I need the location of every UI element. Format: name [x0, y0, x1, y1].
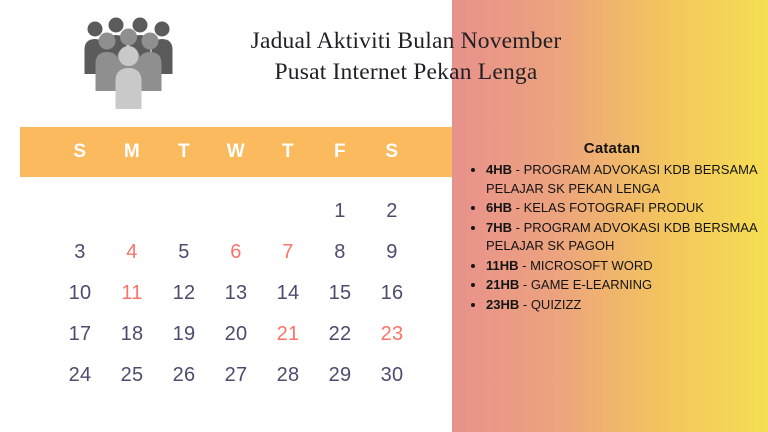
calendar-day-15[interactable]: 15	[314, 282, 366, 305]
note-separator: -	[519, 277, 531, 292]
note-text: KELAS FOTOGRAFI PRODUK	[524, 200, 704, 215]
calendar-day-header-2: T	[158, 141, 210, 163]
poster-canvas: Jadual Aktiviti Bulan November Pusat Int…	[0, 0, 768, 432]
note-day-label: 11HB	[486, 258, 519, 273]
calendar-day-header-row: SMTWTFS	[20, 127, 452, 177]
calendar-day-19[interactable]: 19	[158, 323, 210, 346]
calendar-day-1[interactable]: 1	[314, 200, 366, 223]
note-item: 4HB - PROGRAM ADVOKASI KDB BERSAMA PELAJ…	[486, 161, 762, 198]
calendar-day-29[interactable]: 29	[314, 364, 366, 387]
group-of-people-icon	[78, 12, 182, 110]
note-separator: -	[519, 258, 531, 273]
note-day-label: 21HB	[486, 277, 519, 292]
calendar-day-header-4: T	[262, 141, 314, 163]
title-line-2: Pusat Internet Pekan Lenga	[196, 57, 616, 88]
title-line-1: Jadual Aktiviti Bulan November	[196, 26, 616, 57]
calendar-week-row: 10111213141516	[54, 273, 418, 314]
calendar-day-header-6: S	[366, 141, 418, 163]
calendar-day-10[interactable]: 10	[54, 282, 106, 305]
calendar-day-12[interactable]: 12	[158, 282, 210, 305]
calendar-day-26[interactable]: 26	[158, 364, 210, 387]
note-text: PROGRAM ADVOKASI KDB BERSMAA PELAJAR SK …	[486, 220, 757, 254]
calendar-day-14[interactable]: 14	[262, 282, 314, 305]
calendar-day-8[interactable]: 8	[314, 241, 366, 264]
calendar-day-21[interactable]: 21	[262, 323, 314, 346]
calendar-week-row: 24252627282930	[54, 355, 418, 396]
calendar-week-row: 3456789	[54, 232, 418, 273]
note-day-label: 4HB	[486, 162, 512, 177]
note-separator: -	[512, 162, 524, 177]
note-text: GAME E-LEARNING	[531, 277, 652, 292]
note-text: QUIZIZZ	[531, 297, 582, 312]
calendar-week-row: 17181920212223	[54, 314, 418, 355]
note-separator: -	[512, 220, 524, 235]
calendar-week-row: 12	[54, 191, 418, 232]
calendar-day-4[interactable]: 4	[106, 241, 158, 264]
calendar-weeks: 1234567891011121314151617181920212223242…	[20, 191, 452, 396]
note-item: 11HB - MICROSOFT WORD	[486, 257, 762, 276]
calendar-day-9[interactable]: 9	[366, 241, 418, 264]
note-separator: -	[512, 200, 524, 215]
calendar-day-27[interactable]: 27	[210, 364, 262, 387]
calendar-day-24[interactable]: 24	[54, 364, 106, 387]
poster-title: Jadual Aktiviti Bulan November Pusat Int…	[196, 26, 616, 87]
note-day-label: 23HB	[486, 297, 519, 312]
notes-title: Catatan	[462, 140, 762, 157]
calendar-day-11[interactable]: 11	[106, 282, 158, 305]
calendar-day-25[interactable]: 25	[106, 364, 158, 387]
calendar-day-16[interactable]: 16	[366, 282, 418, 305]
calendar-day-22[interactable]: 22	[314, 323, 366, 346]
calendar: SMTWTFS 12345678910111213141516171819202…	[20, 127, 452, 396]
calendar-day-30[interactable]: 30	[366, 364, 418, 387]
calendar-day-20[interactable]: 20	[210, 323, 262, 346]
note-text: MICROSOFT WORD	[530, 258, 653, 273]
calendar-day-3[interactable]: 3	[54, 241, 106, 264]
calendar-day-header-5: F	[314, 141, 366, 163]
note-day-label: 6HB	[486, 200, 512, 215]
notes-list: 4HB - PROGRAM ADVOKASI KDB BERSAMA PELAJ…	[462, 161, 762, 315]
poster-header: Jadual Aktiviti Bulan November Pusat Int…	[0, 0, 768, 122]
calendar-day-17[interactable]: 17	[54, 323, 106, 346]
note-item: 23HB - QUIZIZZ	[486, 296, 762, 315]
calendar-day-7[interactable]: 7	[262, 241, 314, 264]
calendar-day-6[interactable]: 6	[210, 241, 262, 264]
calendar-day-28[interactable]: 28	[262, 364, 314, 387]
note-item: 7HB - PROGRAM ADVOKASI KDB BERSMAA PELAJ…	[486, 219, 762, 256]
calendar-day-5[interactable]: 5	[158, 241, 210, 264]
calendar-day-header-3: W	[210, 141, 262, 163]
calendar-day-18[interactable]: 18	[106, 323, 158, 346]
note-day-label: 7HB	[486, 220, 512, 235]
calendar-day-header-1: M	[106, 141, 158, 163]
note-item: 21HB - GAME E-LEARNING	[486, 276, 762, 295]
calendar-day-13[interactable]: 13	[210, 282, 262, 305]
calendar-day-header-0: S	[54, 141, 106, 163]
notes-panel: Catatan 4HB - PROGRAM ADVOKASI KDB BERSA…	[462, 140, 762, 316]
calendar-day-23[interactable]: 23	[366, 323, 418, 346]
note-item: 6HB - KELAS FOTOGRAFI PRODUK	[486, 199, 762, 218]
note-text: PROGRAM ADVOKASI KDB BERSAMA PELAJAR SK …	[486, 162, 757, 196]
note-separator: -	[519, 297, 531, 312]
calendar-day-2[interactable]: 2	[366, 200, 418, 223]
